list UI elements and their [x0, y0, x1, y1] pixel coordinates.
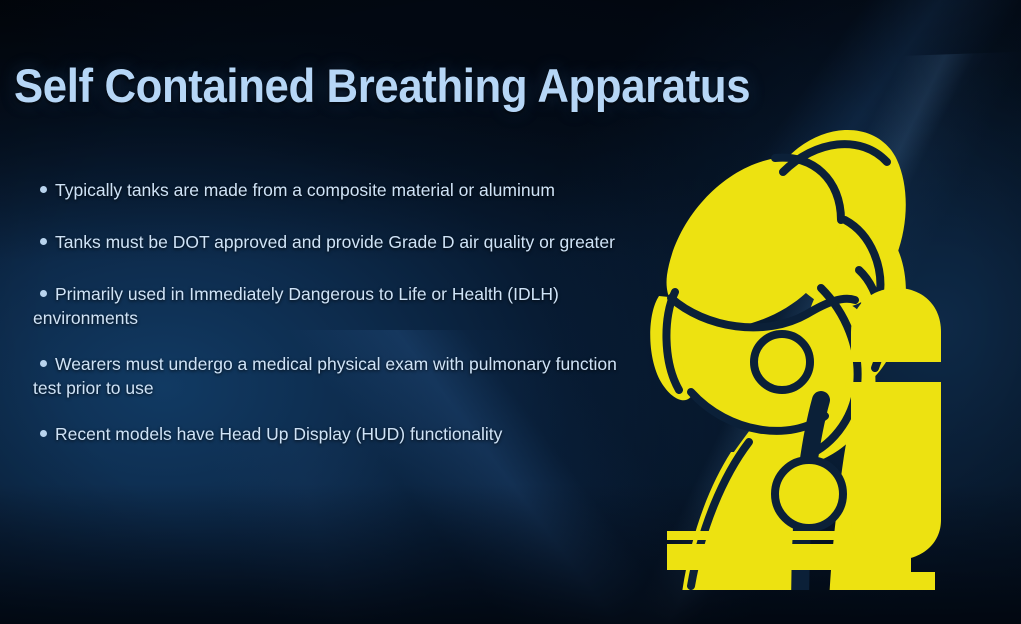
page-title: Self Contained Breathing Apparatus	[14, 62, 750, 109]
list-item-text: Typically tanks are made from a composit…	[55, 180, 555, 200]
bullet-dot-icon	[40, 290, 47, 297]
bullet-list: Typically tanks are made from a composit…	[33, 178, 633, 446]
list-item: Recent models have Head Up Display (HUD)…	[33, 422, 633, 446]
waist-belt-bar-overlay	[667, 544, 838, 570]
list-item-text: Tanks must be DOT approved and provide G…	[55, 232, 615, 252]
list-item: Typically tanks are made from a composit…	[33, 178, 633, 202]
list-item: Primarily used in Immediately Dangerous …	[33, 282, 633, 330]
list-item-text: Primarily used in Immediately Dangerous …	[33, 284, 559, 328]
list-item: Tanks must be DOT approved and provide G…	[33, 230, 633, 254]
bullet-dot-icon	[40, 238, 47, 245]
air-cylinder-group	[851, 288, 941, 590]
list-item-text: Recent models have Head Up Display (HUD)…	[55, 424, 502, 444]
list-item: Wearers must undergo a medical physical …	[33, 352, 633, 400]
cylinder-body	[851, 382, 941, 560]
bullet-dot-icon	[40, 186, 47, 193]
slide: Self Contained Breathing Apparatus Typic…	[0, 0, 1021, 624]
waist-belt-notch	[667, 531, 838, 540]
list-item-text: Wearers must undergo a medical physical …	[33, 354, 617, 398]
bullet-dot-icon	[40, 430, 47, 437]
scba-illustration: .y { fill: #ede211; } .k { fill: none; s…	[645, 100, 945, 590]
bullet-dot-icon	[40, 360, 47, 367]
